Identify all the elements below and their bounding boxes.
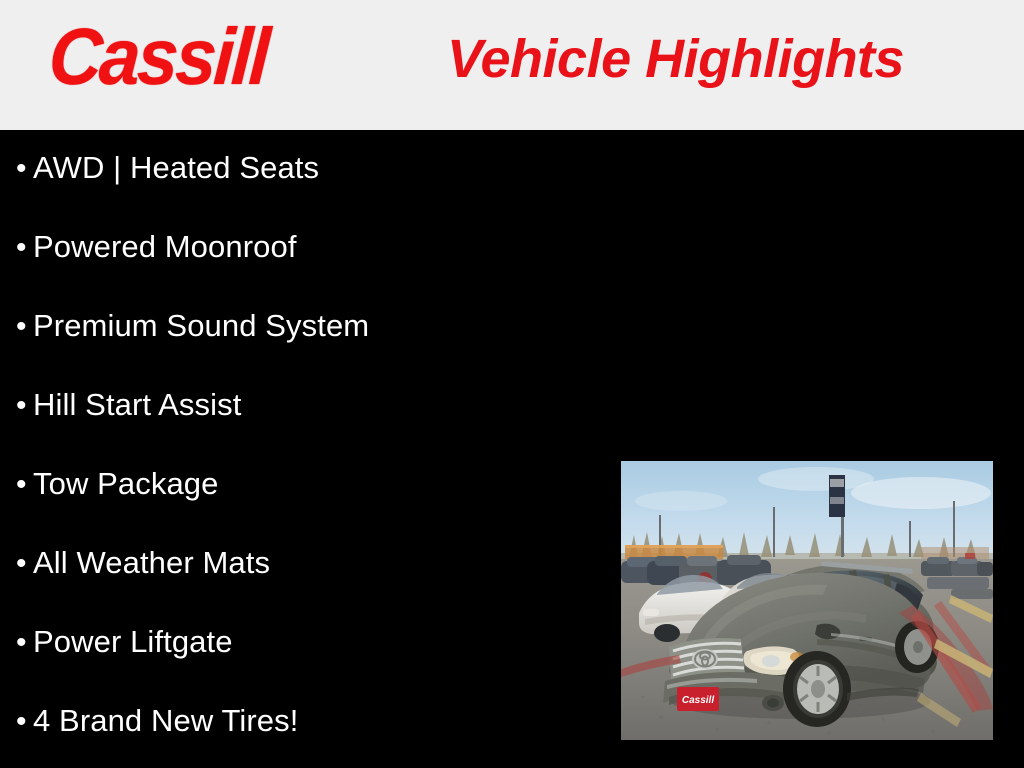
bullet-icon: • — [16, 628, 33, 658]
cassill-logo: Cassill — [46, 14, 270, 100]
list-item-label: Power Liftgate — [33, 626, 233, 657]
bullet-icon: • — [16, 391, 33, 421]
list-item: • Tow Package — [16, 468, 218, 500]
list-item: • Hill Start Assist — [16, 389, 241, 421]
header-band: Cassill Vehicle Highlights — [0, 0, 1024, 130]
list-item: • All Weather Mats — [16, 547, 270, 579]
list-item-label: Premium Sound System — [33, 310, 369, 341]
bullet-icon: • — [16, 549, 33, 579]
bullet-icon: • — [16, 707, 33, 737]
list-item-label: Powered Moonroof — [33, 231, 297, 262]
list-item: • Power Liftgate — [16, 626, 233, 658]
list-item-label: Hill Start Assist — [33, 389, 241, 420]
bullet-icon: • — [16, 233, 33, 263]
bullet-icon: • — [16, 154, 33, 184]
vehicle-photo: Cassill — [621, 461, 993, 740]
page-title: Vehicle Highlights — [447, 28, 904, 92]
bullet-icon: • — [16, 312, 33, 342]
list-item-label: All Weather Mats — [33, 547, 270, 578]
list-item-label: 4 Brand New Tires! — [33, 705, 298, 736]
highlights-list: • AWD | Heated Seats • Powered Moonroof … — [0, 130, 620, 768]
list-item: • Powered Moonroof — [16, 231, 297, 263]
list-item: • 4 Brand New Tires! — [16, 705, 298, 737]
dealer-plate-text: Cassill — [682, 695, 714, 706]
list-item-label: AWD | Heated Seats — [33, 152, 319, 183]
list-item: • Premium Sound System — [16, 310, 369, 342]
vehicle-photo-illustration: Cassill — [621, 461, 993, 740]
bullet-icon: • — [16, 470, 33, 500]
list-item-label: Tow Package — [33, 468, 218, 499]
list-item: • AWD | Heated Seats — [16, 152, 319, 184]
vehicle-highlights-slide: Cassill Vehicle Highlights • AWD | Heate… — [0, 0, 1024, 768]
